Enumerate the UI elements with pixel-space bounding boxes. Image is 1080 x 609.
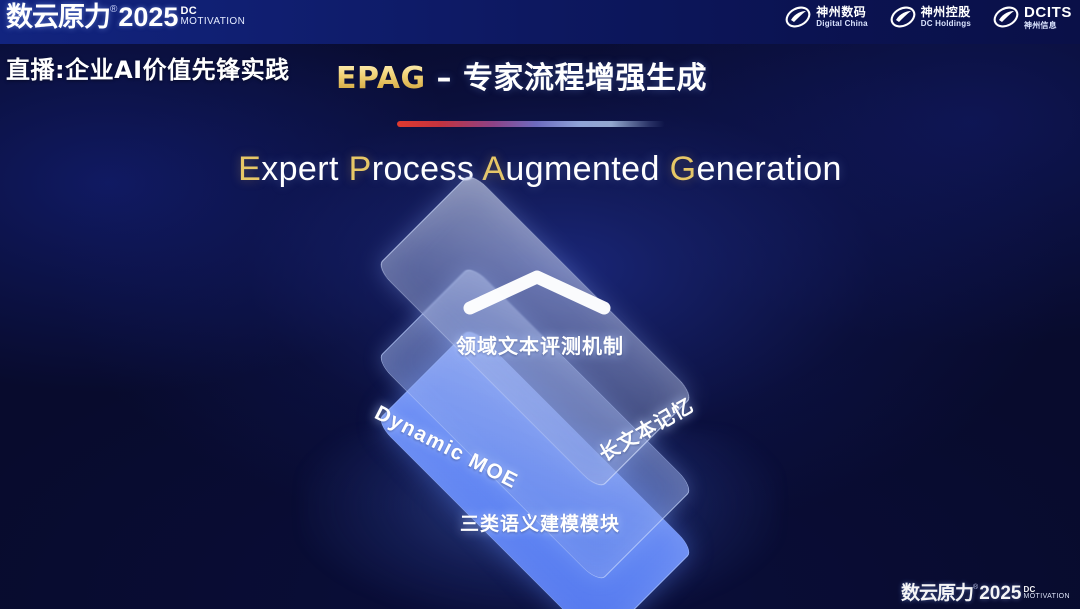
title-separator: –	[426, 61, 463, 96]
page-subtitle: Expert Process Augmented Generation	[0, 150, 1080, 189]
slide-canvas: 数云原力 ® 2025 DC MOTIVATION 直播:企业AI价值先锋实践 …	[0, 0, 1080, 609]
partner-name-cn: 神州数码	[816, 6, 868, 18]
partner-logo-digital-china: 神州数码 Digital China	[785, 4, 868, 30]
layer-top-label: 领域文本评测机制	[0, 330, 1080, 359]
brand-motivation-label: MOTIVATION	[180, 16, 245, 27]
title-chinese: 专家流程增强生成	[463, 61, 707, 96]
title-acronym: EPAG	[336, 61, 426, 96]
layer-middle-label-left: Dynamic MOE	[371, 401, 522, 494]
page-title: EPAG – 专家流程增强生成	[336, 53, 707, 97]
brand-dc-label: DC	[180, 6, 245, 16]
watermark-dc-label: DC	[1023, 586, 1070, 593]
accent-divider	[397, 121, 665, 127]
layer-top-plate	[376, 172, 695, 491]
swirl-logo-icon	[993, 4, 1019, 30]
subtitle-word-augmented: ugmented	[505, 150, 669, 188]
subtitle-word-generation: eneration	[696, 150, 841, 188]
chevron-up-icon	[462, 268, 612, 316]
partner-name-cn: DCITS	[1024, 5, 1072, 20]
partner-name-en: 神州信息	[1024, 22, 1072, 30]
subtitle-capital-a: A	[482, 150, 505, 188]
swirl-logo-icon	[785, 4, 811, 30]
watermark-motivation-label: MOTIVATION	[1023, 593, 1070, 601]
swirl-logo-icon	[890, 4, 916, 30]
brand-year: 2025	[118, 4, 178, 31]
live-session-title: 直播:企业AI价值先锋实践	[6, 50, 290, 85]
partner-name-en: DC Holdings	[921, 20, 971, 28]
watermark-registered-mark: ®	[973, 584, 978, 592]
subtitle-capital-g: G	[670, 150, 697, 188]
partner-logo-dc-holdings: 神州控股 DC Holdings	[890, 4, 971, 30]
subtitle-capital-p: P	[349, 150, 372, 188]
watermark-year: 2025	[979, 584, 1021, 603]
watermark-name-cn: 数云原力	[901, 584, 973, 603]
partner-name-cn: 神州控股	[921, 6, 971, 18]
layer-bottom-plate	[376, 327, 695, 609]
bottom-layer-glow	[300, 430, 780, 609]
partner-logo-dcits: DCITS 神州信息	[993, 4, 1072, 30]
subtitle-word-process: rocess	[372, 150, 483, 188]
partner-logo-group: 神州数码 Digital China 神州控股 DC Holdings	[785, 4, 1072, 30]
layer-bottom-label: 三类语义建模模块	[0, 509, 1080, 536]
brand-name-cn: 数云原力	[6, 4, 110, 31]
brand-dc-motivation: DC MOTIVATION	[180, 6, 245, 27]
layer-middle-label-right: 长文本记忆	[593, 389, 698, 467]
brand-registered-mark: ®	[110, 4, 117, 16]
partner-name-en: Digital China	[816, 20, 868, 28]
watermark-logo: 数云原力 ® 2025 DC MOTIVATION	[901, 584, 1070, 603]
subtitle-capital-e: E	[238, 150, 261, 188]
brand-logo: 数云原力 ® 2025 DC MOTIVATION	[6, 4, 245, 31]
subtitle-word-expert: xpert	[261, 150, 348, 188]
layer-middle-plate	[376, 265, 695, 584]
watermark-dc-motivation: DC MOTIVATION	[1023, 586, 1070, 601]
